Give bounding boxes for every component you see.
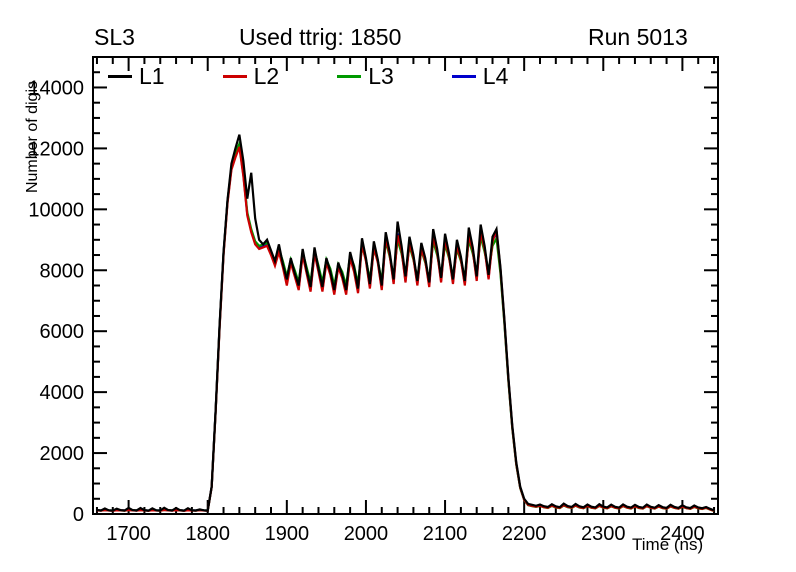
plot-canvas: SL3 Used ttrig: 1850 Run 5013 L1L2L3L4 N… [0,0,796,572]
x-tick-label: 2100 [423,523,468,545]
x-tick-label: 2000 [344,523,389,545]
series-line-l4 [97,145,714,510]
y-tick-label: 10000 [28,199,84,221]
y-tick-label: 4000 [40,382,85,404]
y-tick-label: 12000 [28,138,84,160]
series-line-l3 [97,144,714,511]
series-group [97,135,714,511]
series-line-l1 [97,135,714,511]
y-tick-label: 8000 [40,260,85,282]
x-tick-label: 1700 [106,523,151,545]
x-tick-label: 1800 [185,523,230,545]
y-tick-label: 6000 [40,321,85,343]
chart-svg: 0200040006000800010000120001400017001800… [0,0,796,572]
x-tick-label: 2400 [660,523,705,545]
y-tick-label: 2000 [40,443,85,465]
y-tick-label: 14000 [28,77,84,99]
plot-frame [93,57,718,514]
x-tick-label: 1900 [265,523,310,545]
x-tick-label: 2300 [581,523,626,545]
series-line-l2 [97,147,714,511]
y-tick-label: 0 [73,504,84,526]
x-tick-label: 2200 [502,523,547,545]
